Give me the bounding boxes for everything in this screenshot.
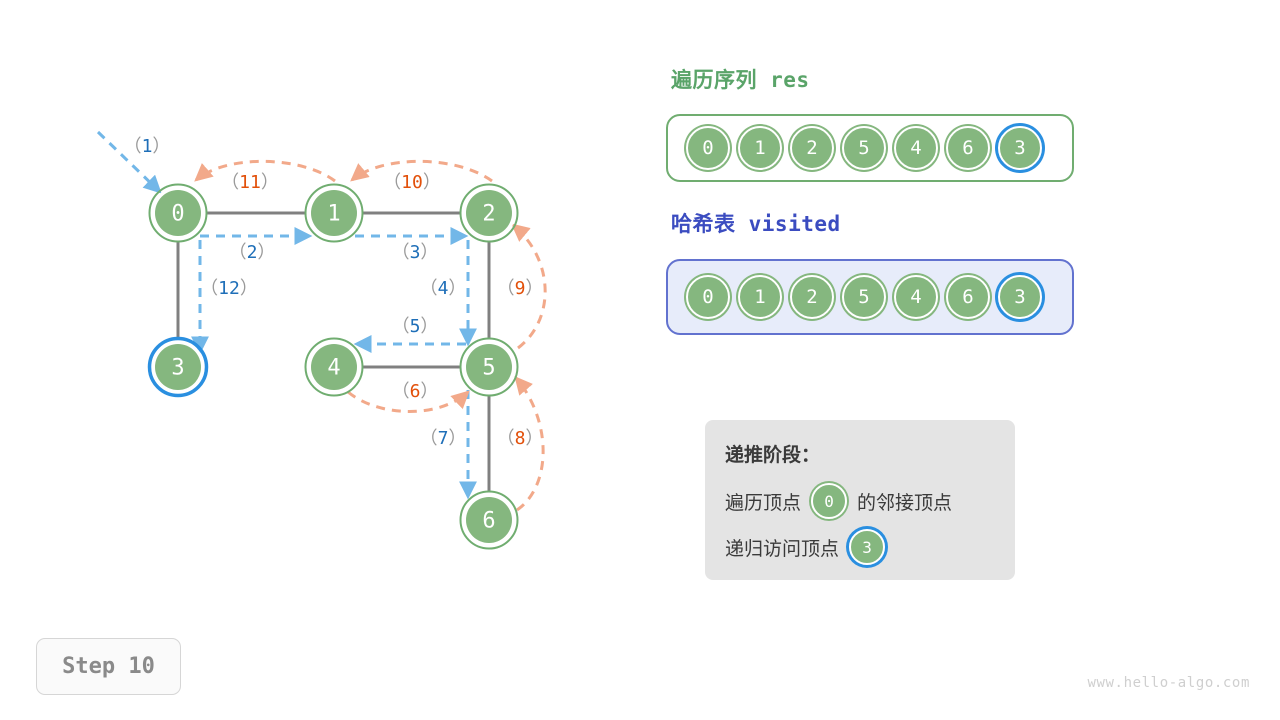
- caption-node-0: 0: [811, 483, 847, 519]
- res-item-3: 5: [842, 126, 886, 170]
- visited-item-0: 0: [686, 275, 730, 319]
- graph-node-0[interactable]: 0: [150, 185, 207, 242]
- graph-diagram: （1）（2）（3）（4）（5）（6）（7）（8）（9）（10）（11）（12） …: [0, 0, 1280, 720]
- graph-node-1[interactable]: 1: [306, 185, 363, 242]
- caption-line-1-prefix: 遍历顶点: [725, 488, 801, 515]
- step-label-12: （12）: [200, 278, 258, 299]
- step-label-1: （1）: [124, 136, 171, 157]
- visited-item-2: 2: [790, 275, 834, 319]
- step-label-6: （6）: [392, 381, 439, 402]
- caption-line-1: 遍历顶点 0 的邻接顶点: [725, 483, 1015, 519]
- node-label: 1: [327, 202, 340, 227]
- res-item-2: 2: [790, 126, 834, 170]
- slide-canvas: （1）（2）（3）（4）（5）（6）（7）（8）（9）（10）（11）（12） …: [0, 0, 1280, 720]
- visited-item-1: 1: [738, 275, 782, 319]
- visited-item-5: 6: [946, 275, 990, 319]
- step-badge: Step 10: [36, 638, 181, 695]
- node-label: 2: [482, 202, 495, 227]
- res-array: 0125463: [666, 114, 1074, 182]
- step-label-3: （3）: [392, 242, 439, 263]
- step-label-11: （11）: [221, 172, 279, 193]
- visited-item-3: 5: [842, 275, 886, 319]
- visited-title: 哈希表 visited: [671, 208, 841, 238]
- step-label-7: （7）: [420, 428, 467, 449]
- step-label-10: （10）: [383, 172, 441, 193]
- graph-nodes: 0123456: [150, 185, 518, 549]
- step-label-8: （8）: [497, 428, 544, 449]
- node-label: 4: [327, 356, 340, 381]
- caption-line-2-prefix: 递归访问顶点: [725, 534, 839, 561]
- graph-node-3[interactable]: 3: [150, 339, 207, 396]
- visited-item-4: 4: [894, 275, 938, 319]
- caption-node-3: 3: [849, 529, 885, 565]
- caption-card: 递推阶段： 遍历顶点 0 的邻接顶点 递归访问顶点 3: [705, 420, 1015, 580]
- res-item-1: 1: [738, 126, 782, 170]
- res-item-6: 3: [998, 126, 1042, 170]
- res-item-5: 6: [946, 126, 990, 170]
- visited-item-6: 3: [998, 275, 1042, 319]
- node-label: 6: [482, 509, 495, 534]
- node-label: 0: [171, 202, 184, 227]
- step-label-9: （9）: [497, 278, 544, 299]
- watermark: www.hello-algo.com: [1087, 675, 1250, 691]
- node-label: 3: [171, 356, 184, 381]
- caption-line-2: 递归访问顶点 3: [725, 529, 1015, 565]
- step-label-2: （2）: [229, 242, 276, 263]
- graph-node-4[interactable]: 4: [306, 339, 363, 396]
- visited-array: 0125463: [666, 259, 1074, 335]
- graph-node-2[interactable]: 2: [461, 185, 518, 242]
- res-item-4: 4: [894, 126, 938, 170]
- step-labels: （1）（2）（3）（4）（5）（6）（7）（8）（9）（10）（11）（12）: [124, 136, 544, 449]
- res-title: 遍历序列 res: [671, 64, 810, 94]
- node-label: 5: [482, 356, 495, 381]
- step-label-5: （5）: [392, 316, 439, 337]
- graph-node-6[interactable]: 6: [461, 492, 518, 549]
- caption-line-1-suffix: 的邻接顶点: [857, 488, 952, 515]
- graph-node-5[interactable]: 5: [461, 339, 518, 396]
- step-label-4: （4）: [420, 278, 467, 299]
- caption-heading: 递推阶段：: [725, 440, 1015, 467]
- res-item-0: 0: [686, 126, 730, 170]
